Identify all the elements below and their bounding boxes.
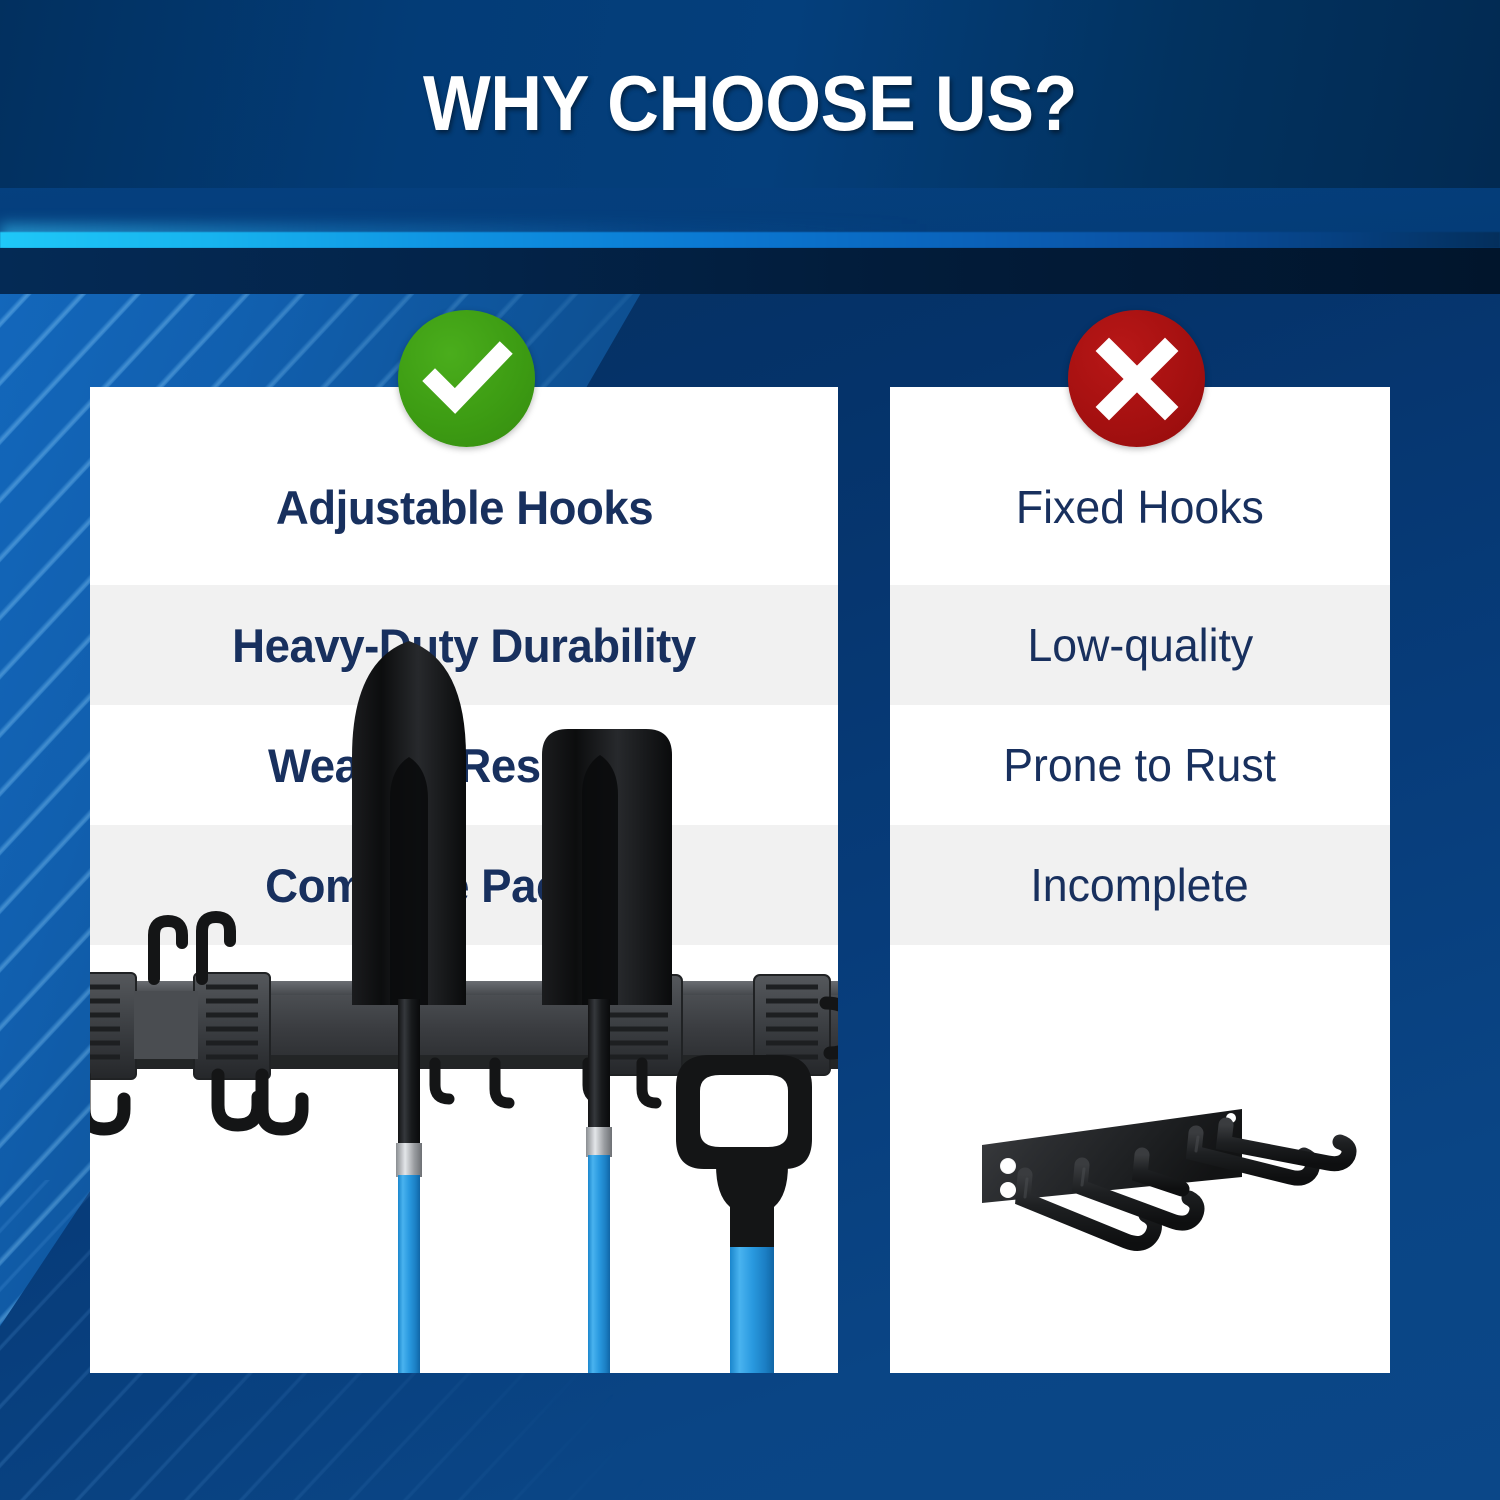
background-shadow-strip — [0, 248, 1500, 294]
infographic-stage: WHY CHOOSE US? Adjustable Hooks Heavy-Du… — [0, 0, 1500, 1500]
d-handle-spade — [676, 1055, 812, 1373]
background-cyan-streak — [0, 232, 1500, 248]
pros-row-label: Complete Package — [265, 858, 663, 913]
cross-mark-icon — [1095, 337, 1179, 421]
adjustable-bracket-left — [90, 917, 302, 1129]
cons-card: Fixed Hooks Low-quality Prone to Rust In… — [890, 387, 1390, 1373]
x-circle-icon — [1068, 310, 1205, 447]
pros-row: Weather-Resistant — [90, 705, 838, 825]
pros-row-list: Adjustable Hooks Heavy-Duty Durability W… — [90, 387, 838, 945]
tool-hooks-center — [435, 1063, 656, 1103]
pros-row-label: Heavy-Duty Durability — [232, 618, 696, 673]
cons-row-list: Fixed Hooks Low-quality Prone to Rust In… — [890, 387, 1390, 945]
check-mark-icon — [421, 333, 513, 425]
cons-row-label: Incomplete — [1031, 858, 1249, 912]
storage-rail — [90, 981, 838, 1069]
pros-row: Complete Package — [90, 825, 838, 945]
pros-row: Heavy-Duty Durability — [90, 585, 838, 705]
cons-row: Incomplete — [890, 825, 1390, 945]
fixed-hooks — [1023, 1125, 1349, 1243]
cons-row-label: Fixed Hooks — [1016, 480, 1264, 534]
fixed-hooks-highlight — [1025, 1137, 1198, 1197]
cons-row-label: Low-quality — [1027, 618, 1253, 672]
adjustable-bracket-right — [596, 975, 838, 1075]
pros-row-label: Weather-Resistant — [268, 738, 659, 793]
pros-row-label: Adjustable Hooks — [275, 480, 652, 535]
fixed-hook-plate — [982, 1109, 1242, 1203]
cons-row: Prone to Rust — [890, 705, 1390, 825]
page-title: WHY CHOOSE US? — [60, 58, 1440, 149]
cons-row: Low-quality — [890, 585, 1390, 705]
pros-card: Adjustable Hooks Heavy-Duty Durability W… — [90, 387, 838, 1373]
check-circle-icon — [398, 310, 535, 447]
cons-row-label: Prone to Rust — [1004, 738, 1277, 792]
